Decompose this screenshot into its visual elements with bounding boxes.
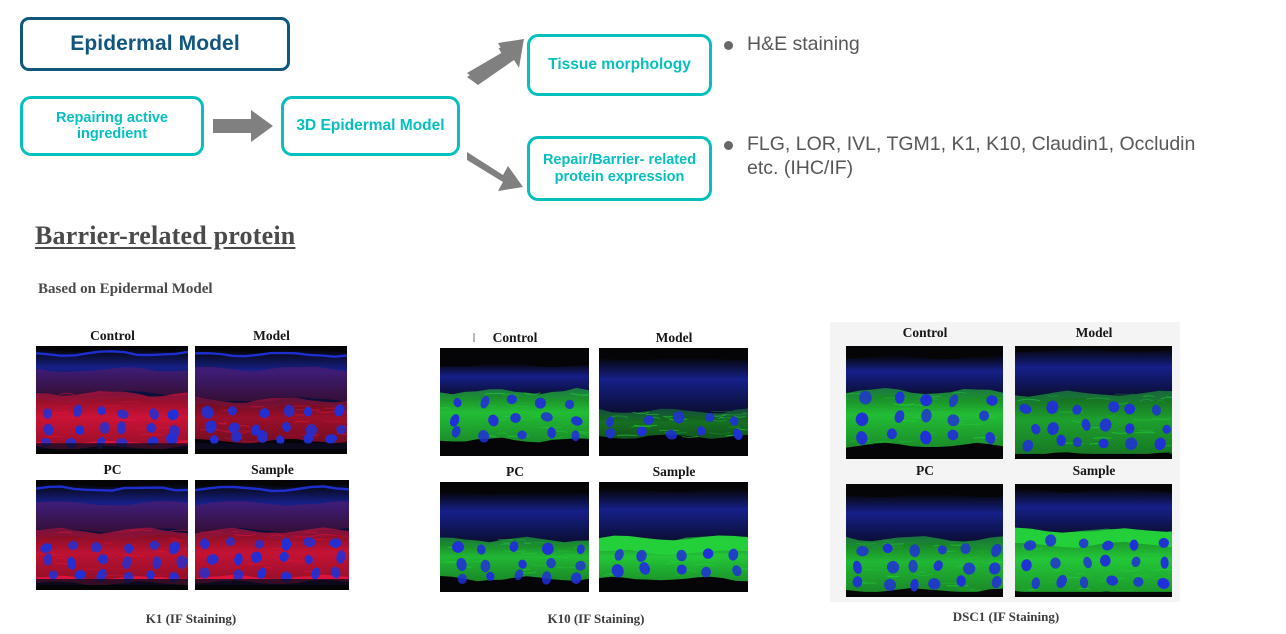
micrograph-image-k1-pc: [36, 480, 188, 590]
micrograph-tile-control: Control: [36, 328, 189, 456]
section-heading: Barrier-related protein: [35, 221, 295, 251]
micrograph-tile-control: Control: [440, 330, 590, 458]
group-caption: DSC1 (IF Staining): [830, 609, 1182, 625]
micrograph-tile-sample: Sample: [195, 462, 350, 594]
tile-label: Control: [846, 325, 1004, 341]
flow-box-repair-barrier-protein: Repair/Barrier- related protein expressi…: [527, 136, 712, 201]
micrograph-tile-control: Control: [846, 325, 1004, 461]
tile-label: Control: [36, 328, 189, 344]
micrograph-tile-model: Model: [195, 328, 348, 456]
flow-box-label: 3D Epidermal Model: [296, 117, 444, 134]
bullet-he-staining: H&E staining: [724, 33, 860, 57]
bullet-protein-markers: FLG, LOR, IVL, TGM1, K1, K10, Claudin1, …: [724, 133, 1284, 181]
tile-label: PC: [36, 462, 189, 478]
micrograph-image-k1-control: [36, 346, 188, 454]
micrograph-image-k10-model: [599, 348, 748, 456]
tile-label: Sample: [195, 462, 350, 478]
micrograph-image-dsc1-sample: [1015, 484, 1172, 597]
micrograph-tile-pc: PC: [440, 464, 590, 596]
micrograph-image-dsc1-model: [1015, 346, 1172, 459]
micrograph-image-k10-sample: [599, 482, 748, 592]
flow-box-repairing-ingredient: Repairing active ingredient: [20, 96, 204, 156]
bullet-dot-icon: [724, 141, 733, 150]
flow-box-label: Tissue morphology: [548, 56, 691, 73]
tile-label: PC: [846, 463, 1004, 479]
tile-label: Sample: [599, 464, 749, 480]
micrograph-tile-sample: Sample: [1015, 463, 1173, 599]
panel-group-k1: Control Model PC: [36, 328, 346, 624]
panel-group-k10: Control Model PC: [440, 330, 752, 624]
tile-label: Control: [440, 330, 590, 346]
tile-label: Model: [195, 328, 348, 344]
tile-label: Sample: [1015, 463, 1173, 479]
group-caption: K10 (IF Staining): [440, 611, 752, 627]
flow-box-tissue-morphology: Tissue morphology: [527, 34, 712, 96]
flow-box-epidermal-model: Epidermal Model: [20, 17, 290, 71]
arrow-up-right-icon: [466, 33, 528, 90]
flow-box-label: Repairing active ingredient: [32, 110, 192, 142]
micrograph-image-k1-model: [195, 346, 347, 454]
flow-box-label: Epidermal Model: [70, 32, 240, 56]
micrograph-tile-pc: PC: [846, 463, 1004, 599]
bullet-label: H&E staining: [747, 33, 860, 57]
micrograph-image-dsc1-pc: [846, 484, 1003, 597]
tile-label: PC: [440, 464, 590, 480]
micrograph-tile-model: Model: [599, 330, 749, 458]
tile-label: Model: [599, 330, 749, 346]
micrograph-tile-pc: PC: [36, 462, 189, 594]
flow-box-3d-epidermal-model: 3D Epidermal Model: [281, 96, 460, 156]
bullet-label: FLG, LOR, IVL, TGM1, K1, K10, Claudin1, …: [747, 133, 1195, 181]
micrograph-image-dsc1-control: [846, 346, 1003, 459]
micrograph-image-k10-pc: [440, 482, 589, 592]
arrow-down-right-icon: [466, 142, 528, 199]
subsection-heading: Based on Epidermal Model: [38, 281, 213, 298]
micrograph-image-k1-sample: [195, 480, 349, 590]
micrograph-tile-sample: Sample: [599, 464, 749, 596]
arrow-right-icon: [213, 109, 275, 143]
tile-label: Model: [1015, 325, 1173, 341]
micrograph-image-k10-control: [440, 348, 589, 456]
bullet-dot-icon: [724, 41, 733, 50]
micrograph-tile-model: Model: [1015, 325, 1173, 461]
group-caption: K1 (IF Staining): [36, 611, 346, 627]
flow-box-label: Repair/Barrier- related protein expressi…: [538, 152, 701, 184]
panel-group-dsc1: Control Model PC: [830, 322, 1182, 624]
